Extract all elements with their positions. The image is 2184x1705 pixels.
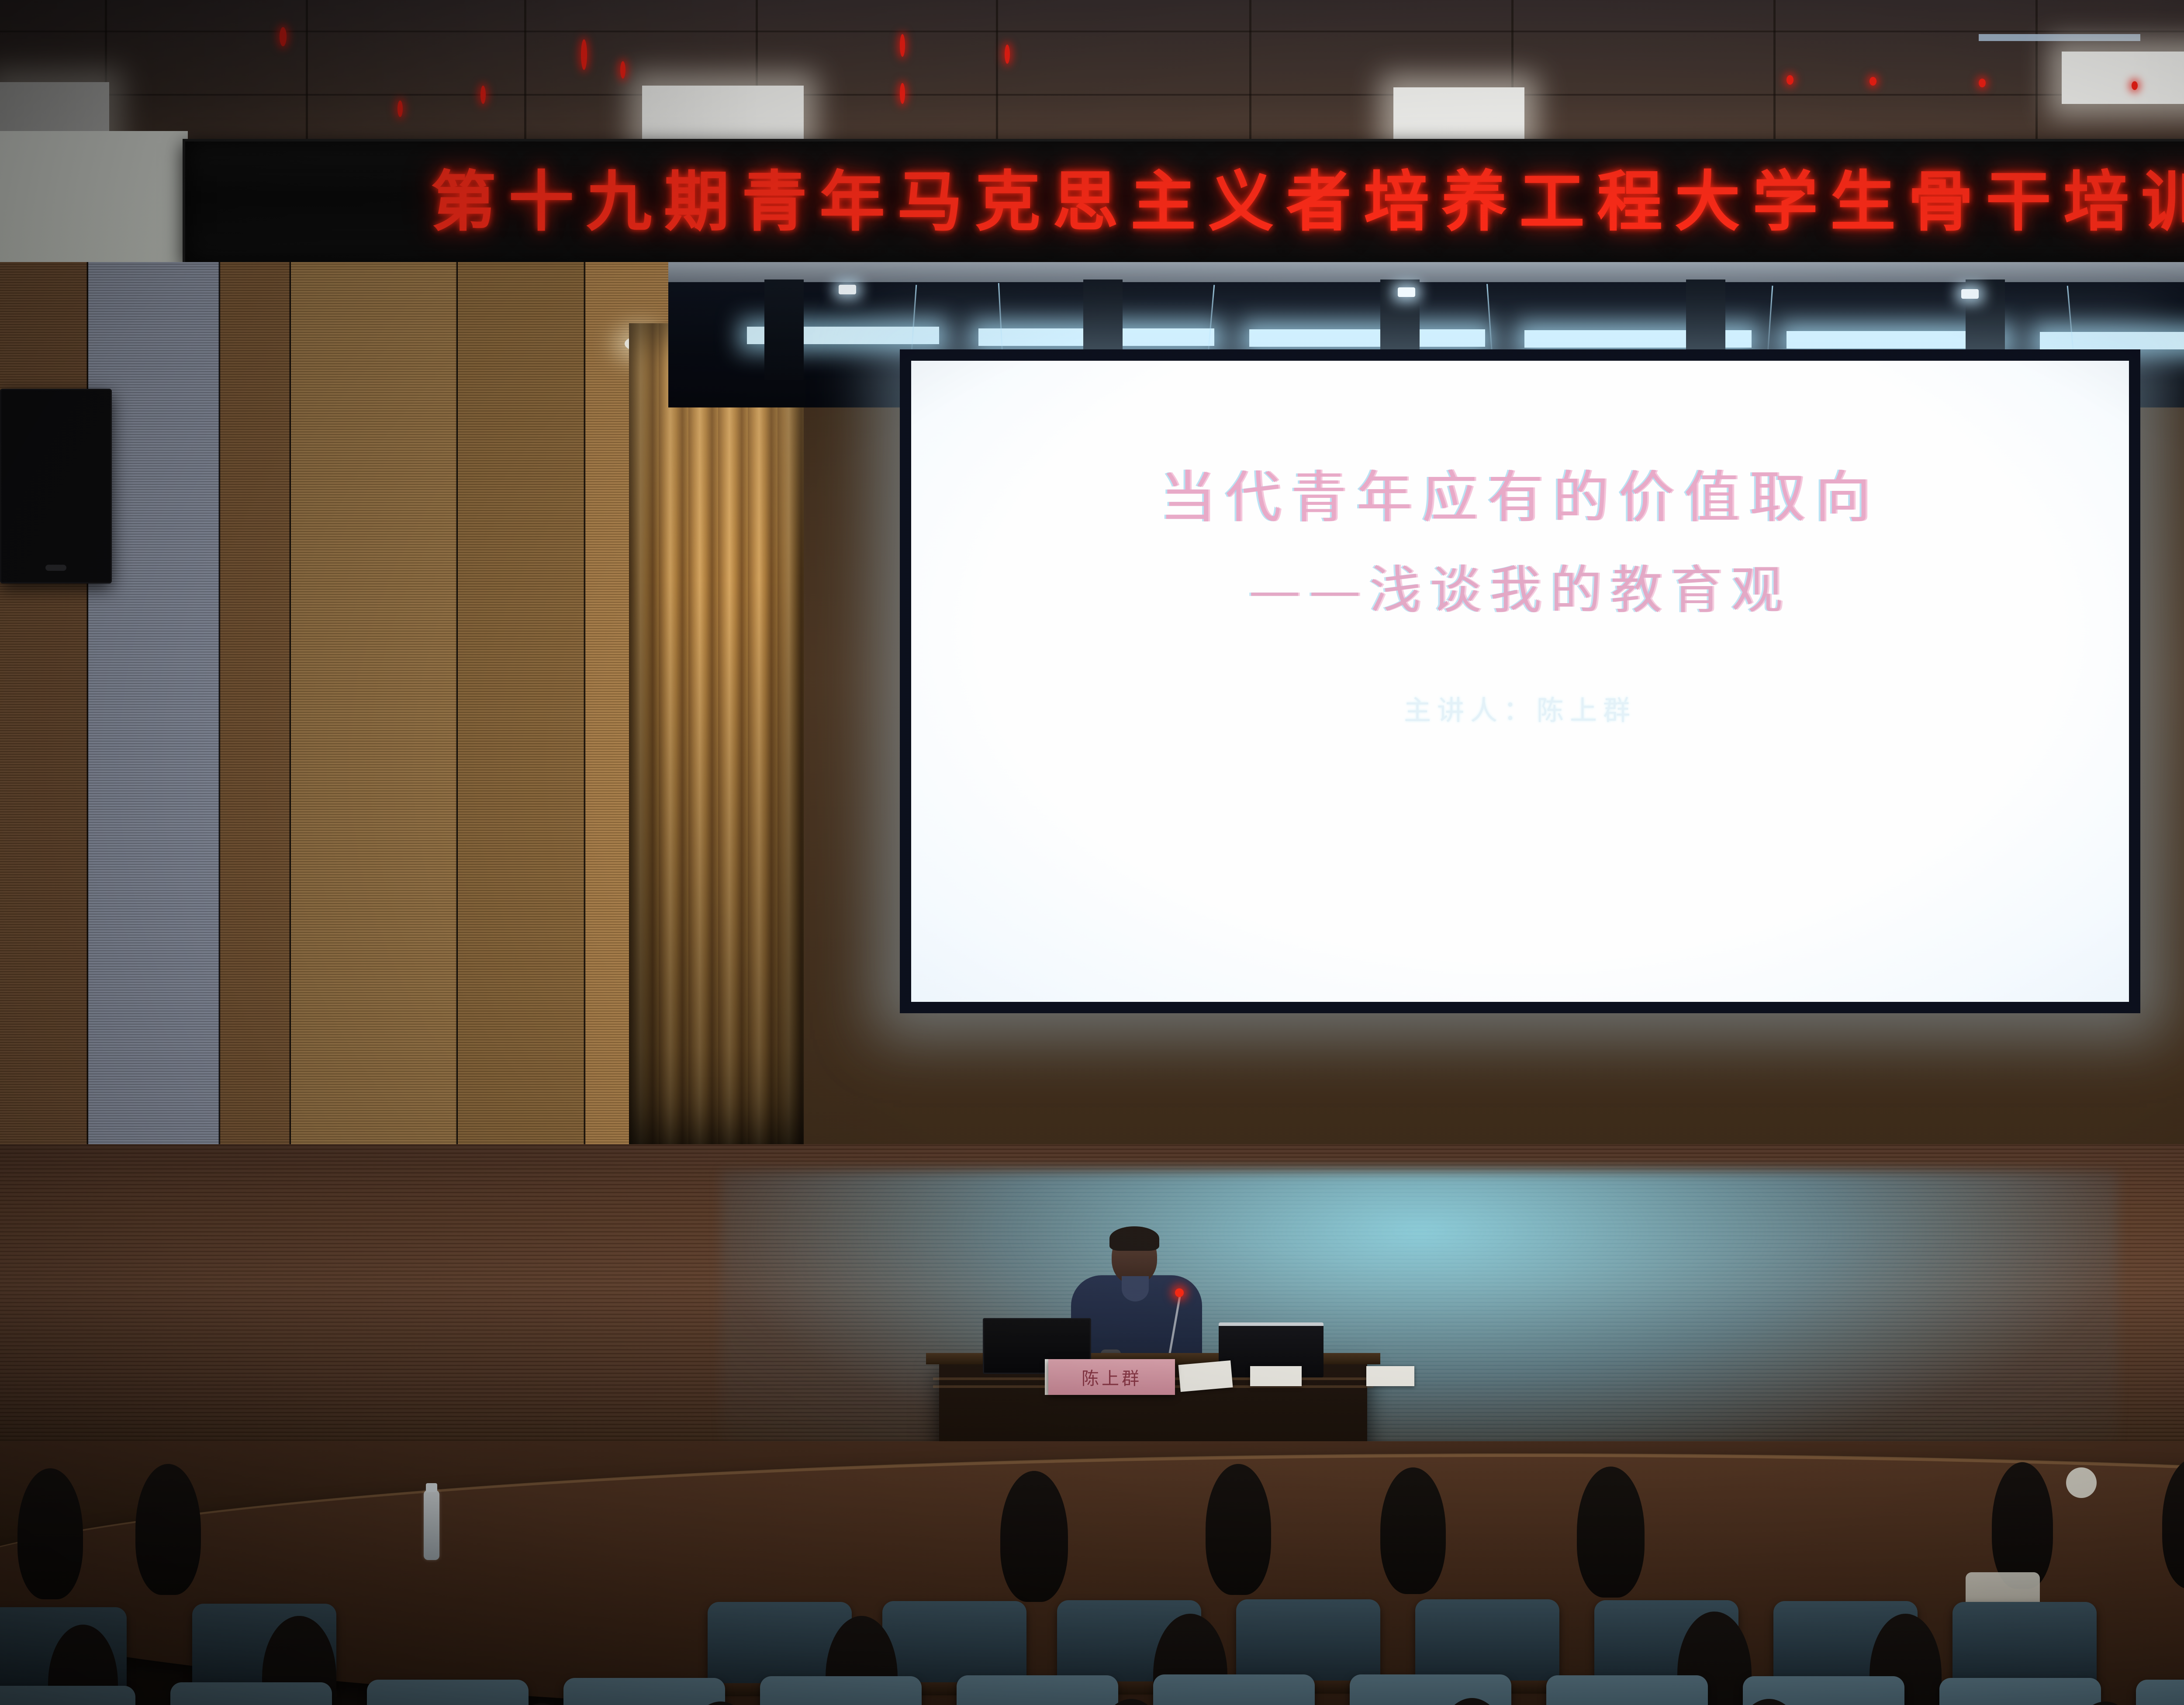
presenter-nameplate: 陈上群 [1048, 1359, 1175, 1395]
audience-head [135, 1464, 201, 1595]
loudspeaker-left [0, 389, 112, 583]
led-banner: 第十九期青年马克思主义者培养工程大学生骨干培训班专题报告 [183, 139, 2184, 266]
projection-screen-frame: 当代青年应有的价值取向 ——浅谈我的教育观 主讲人：陈上群 [900, 349, 2140, 1013]
audience-seat [2136, 1680, 2184, 1705]
audience-seat [1350, 1674, 1511, 1705]
audience-seat [1939, 1678, 2101, 1705]
audience-seat [1415, 1599, 1559, 1682]
slide-title: 当代青年应有的价值取向 [1160, 466, 1880, 530]
speaker-collar [1122, 1276, 1149, 1301]
audience-seat [1952, 1602, 2097, 1685]
microphone-led-icon [1175, 1288, 1184, 1297]
water-bottle [424, 1490, 439, 1560]
stage-curtain-left [629, 323, 804, 1175]
audience-seat [760, 1676, 922, 1705]
speaker-hair [1109, 1226, 1159, 1251]
desk-paper [1250, 1366, 1302, 1386]
stage-spotlight [1961, 289, 1979, 299]
presenter-nameplate-text: 陈上群 [1082, 1364, 1142, 1390]
audience-head [1577, 1467, 1645, 1598]
desk-paper [1366, 1366, 1414, 1386]
audience-head [1380, 1467, 1446, 1594]
stage-projector-glow [721, 1170, 2118, 1476]
audience-head [1206, 1464, 1271, 1595]
bottle-cap [426, 1483, 437, 1492]
lecture-hall-photo: 第十九期青年马克思主义者培养工程大学生骨干培训班专题报告 [0, 0, 2184, 1705]
wall-left [0, 262, 681, 1245]
slide-subtitle: ——浅谈我的教育观 [1249, 548, 1791, 623]
audience-seat [170, 1682, 332, 1705]
audience-seat [882, 1601, 1026, 1684]
audience-head-bun [2066, 1467, 2097, 1498]
desk-paper [1178, 1360, 1233, 1392]
audience-head [17, 1468, 83, 1599]
slide-presenter: 主讲人：陈上群 [1404, 688, 1636, 728]
audience-seat [1546, 1675, 1708, 1705]
audience-seat [1153, 1674, 1315, 1705]
audience-seat [367, 1680, 529, 1705]
hall-body: 当代青年应有的价值取向 ——浅谈我的教育观 主讲人：陈上群 [0, 262, 2184, 1705]
stage-spotlight [1398, 287, 1415, 297]
projection-screen: 当代青年应有的价值取向 ——浅谈我的教育观 主讲人：陈上群 [911, 361, 2129, 1002]
audience-head [1992, 1462, 2053, 1589]
audience-head [1000, 1471, 1068, 1602]
audience-seat [1236, 1599, 1380, 1682]
audience-seat [957, 1675, 1118, 1705]
stage-spotlight [839, 285, 856, 294]
audience-area [0, 1441, 2184, 1705]
audience-seat [563, 1678, 725, 1705]
audience-seat [0, 1686, 135, 1705]
led-banner-text: 第十九期青年马克思主义者培养工程大学生骨干培训班专题报告 [431, 169, 2184, 235]
